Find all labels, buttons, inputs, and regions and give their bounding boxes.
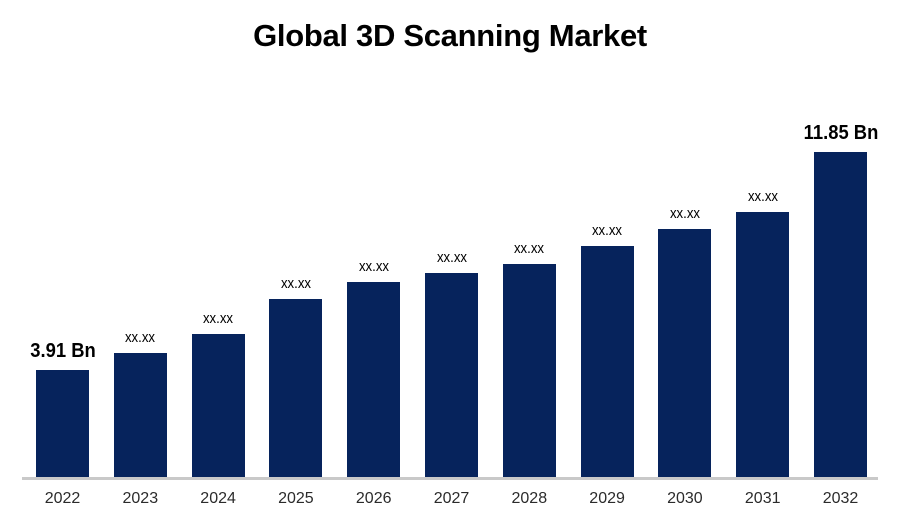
bar-2032	[814, 152, 867, 478]
x-tick-2031: 2031	[718, 490, 808, 508]
bar-value-label-2024: xx.xx	[165, 310, 271, 327]
x-axis-line	[22, 477, 878, 480]
x-tick-2025: 2025	[251, 490, 341, 508]
bar-2022	[36, 370, 89, 478]
x-tick-2027: 2027	[407, 490, 497, 508]
bar-value-label-2025: xx.xx	[243, 275, 349, 292]
x-tick-2023: 2023	[95, 490, 185, 508]
bar-2030	[658, 229, 711, 478]
x-tick-2030: 2030	[640, 490, 730, 508]
x-tick-2022: 2022	[18, 490, 108, 508]
x-tick-2024: 2024	[173, 490, 263, 508]
bar-value-label-2031: xx.xx	[710, 188, 816, 205]
x-tick-2026: 2026	[329, 490, 419, 508]
bar-2025	[269, 299, 322, 478]
bar-2029	[581, 246, 634, 478]
bar-value-label-2028: xx.xx	[476, 240, 582, 257]
bar-2031	[736, 212, 789, 478]
bar-2023	[114, 353, 167, 478]
bar-value-label-2023: xx.xx	[87, 329, 193, 346]
bar-2027	[425, 273, 478, 478]
x-tick-2032: 2032	[796, 490, 886, 508]
bar-2026	[347, 282, 400, 478]
x-tick-2028: 2028	[484, 490, 574, 508]
plot-area: 3.91 Bnxx.xxxx.xxxx.xxxx.xxxx.xxxx.xxxx.…	[0, 0, 900, 525]
x-tick-2029: 2029	[562, 490, 652, 508]
bar-2024	[192, 334, 245, 478]
bar-value-label-2032: 11.85 Bn	[785, 122, 895, 145]
chart-canvas: Global 3D Scanning Market 3.91 Bnxx.xxxx…	[0, 0, 900, 525]
bar-value-label-2030: xx.xx	[632, 205, 738, 222]
bar-2028	[503, 264, 556, 478]
bar-value-label-2029: xx.xx	[554, 222, 660, 239]
